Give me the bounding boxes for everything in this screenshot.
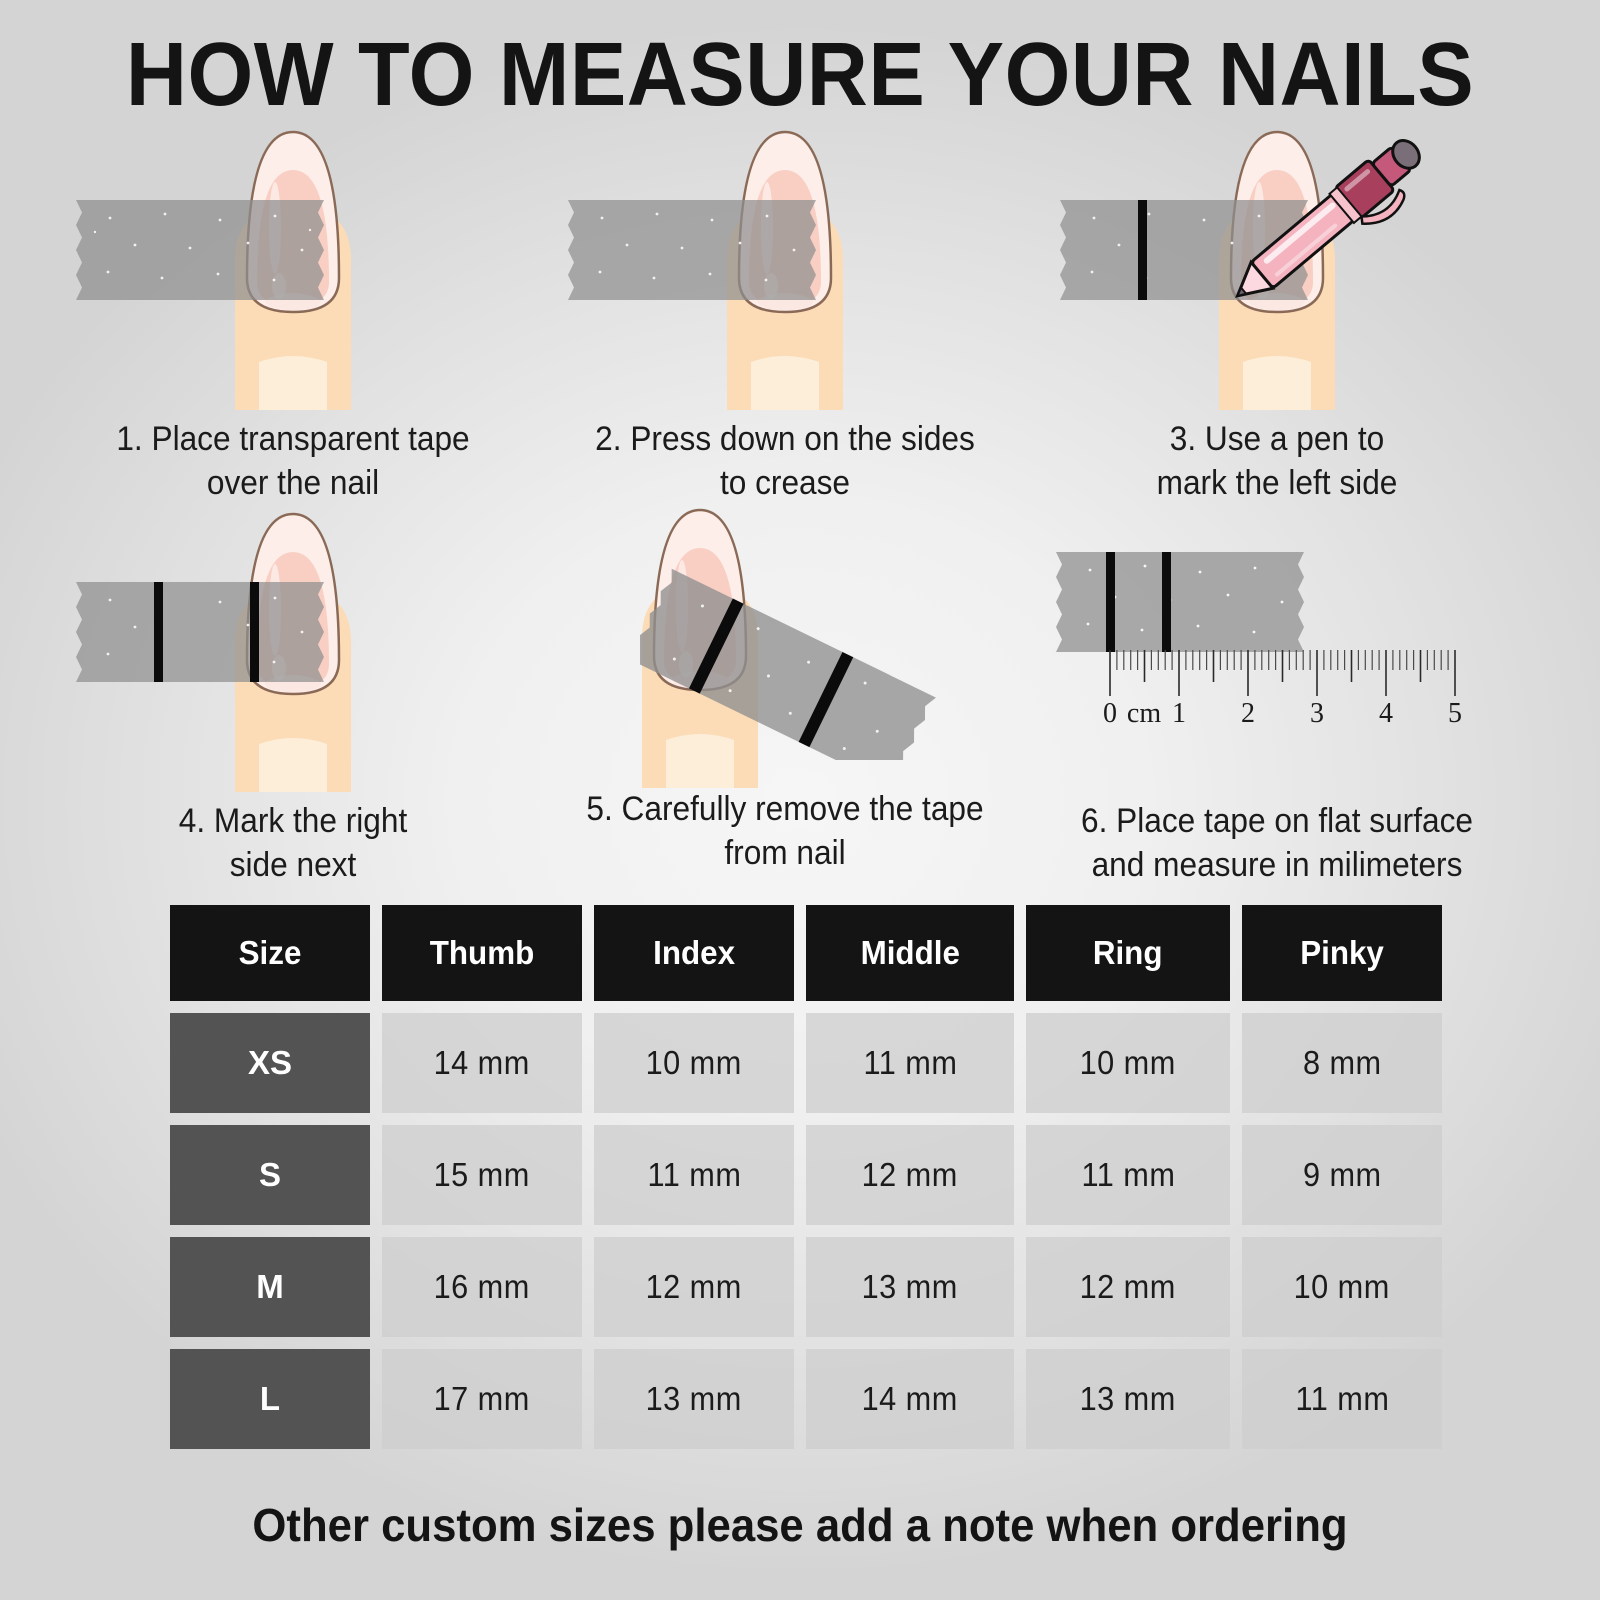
step-5-caption-line-2: from nail — [566, 832, 1003, 876]
table-header-index: Index — [594, 905, 794, 1001]
step-3: 3. Use a pen to mark the left side — [1042, 130, 1512, 505]
step-4-caption-line-2: side next — [74, 844, 511, 888]
table-cell: 11 mm — [1026, 1125, 1230, 1225]
table-cell-value: 9 mm — [1303, 1156, 1382, 1194]
table-cell-value: 13 mm — [862, 1268, 958, 1306]
table-cell: 13 mm — [1026, 1349, 1230, 1449]
step-6-caption-line-2: and measure in milimeters — [1058, 844, 1495, 888]
infographic-page: HOW TO MEASURE YOUR NAILS — [0, 0, 1600, 1600]
table-header-thumb: Thumb — [382, 905, 582, 1001]
finger-with-tape-graphic — [213, 110, 373, 410]
table-header-pinky-label: Pinky — [1300, 934, 1384, 972]
table-cell: 16 mm — [382, 1237, 582, 1337]
step-3-caption: 3. Use a pen to mark the left side — [1058, 418, 1495, 505]
finger-graphic — [620, 488, 780, 788]
table-cell-value: 14 mm — [862, 1380, 958, 1418]
table-cell: 14 mm — [806, 1349, 1014, 1449]
step-5-caption: 5. Carefully remove the tape from nail — [566, 788, 1003, 875]
step-5-caption-line-1: 5. Carefully remove the tape — [566, 788, 1003, 832]
finger-with-tape-graphic — [1197, 110, 1357, 410]
table-cell: 12 mm — [1026, 1237, 1230, 1337]
table-header-middle-label: Middle — [860, 934, 959, 972]
custom-sizes-note: Other custom sizes please add a note whe… — [40, 1498, 1560, 1552]
step-4-caption-line-1: 4. Mark the right — [74, 800, 511, 844]
step-5: 5. Carefully remove the tape from nail — [550, 500, 1020, 875]
table-header-size: Size — [170, 905, 370, 1001]
step-1: 1. Place transparent tape over the nail — [58, 130, 528, 505]
table-cell-value: 10 mm — [1294, 1268, 1390, 1306]
finger-with-creased-tape-graphic — [705, 110, 865, 410]
table-cell-value: 10 mm — [646, 1044, 742, 1082]
table-cell: 9 mm — [1242, 1125, 1442, 1225]
table-cell-value: 13 mm — [1080, 1380, 1176, 1418]
step-4-caption: 4. Mark the right side next — [74, 800, 511, 887]
table-cell-value: 11 mm — [863, 1044, 957, 1082]
left-mark — [1106, 552, 1115, 652]
step-6: 0 cm 1 2 3 4 5 6. Place tape on flat sur… — [1042, 500, 1512, 887]
table-header-size-label: Size — [239, 934, 302, 972]
table-cell-value: 10 mm — [1080, 1044, 1176, 1082]
right-mark — [1162, 552, 1171, 652]
step-2-illustration — [550, 130, 1020, 410]
table-cell: 14 mm — [382, 1013, 582, 1113]
table-header-ring: Ring — [1026, 905, 1230, 1001]
finger-with-tape-graphic — [213, 492, 373, 792]
ruler-tick-4: 4 — [1379, 698, 1393, 729]
step-4: 4. Mark the right side next — [58, 512, 528, 887]
table-cell: 12 mm — [594, 1237, 794, 1337]
table-header-ring-label: Ring — [1093, 934, 1163, 972]
ruler-tick-2: 2 — [1241, 698, 1255, 729]
step-6-caption: 6. Place tape on flat surface and measur… — [1058, 800, 1495, 887]
table-cell-value: 8 mm — [1303, 1044, 1382, 1082]
step-1-illustration — [58, 130, 528, 410]
ruler: 0 cm 1 2 3 4 5 — [1102, 650, 1462, 730]
right-mark — [799, 652, 854, 747]
table-row-size-label: M — [170, 1237, 370, 1337]
left-mark — [1138, 200, 1147, 300]
step-2: 2. Press down on the sides to crease — [550, 130, 1020, 505]
table-cell: 10 mm — [1026, 1013, 1230, 1113]
ruler-unit-label: cm — [1127, 698, 1161, 729]
table-cell-value: 17 mm — [434, 1380, 530, 1418]
table-row-size-label: S — [170, 1125, 370, 1225]
table-cell-value: 13 mm — [646, 1380, 742, 1418]
table-cell-value: 11 mm — [1081, 1156, 1175, 1194]
table-row-size-label: XS — [170, 1013, 370, 1113]
step-3-illustration — [1042, 130, 1512, 410]
table-header-middle: Middle — [806, 905, 1014, 1001]
table-cell: 11 mm — [594, 1125, 794, 1225]
table-header-pinky: Pinky — [1242, 905, 1442, 1001]
table-cell-value: 14 mm — [434, 1044, 530, 1082]
table-cell: 10 mm — [594, 1013, 794, 1113]
size-chart-table: Size Thumb Index Middle Ring Pinky XS 14… — [170, 905, 1438, 1449]
table-cell: 12 mm — [806, 1125, 1014, 1225]
step-4-illustration — [58, 512, 528, 792]
ruler-tick-3: 3 — [1310, 698, 1324, 729]
tape-on-surface — [1050, 552, 1310, 652]
step-1-caption-line-1: 1. Place transparent tape — [74, 418, 511, 462]
table-cell-value: 11 mm — [1295, 1380, 1389, 1418]
table-cell: 13 mm — [594, 1349, 794, 1449]
step-6-caption-line-1: 6. Place tape on flat surface — [1058, 800, 1495, 844]
step-3-caption-line-1: 3. Use a pen to — [1058, 418, 1495, 462]
table-header-thumb-label: Thumb — [430, 934, 534, 972]
table-cell: 10 mm — [1242, 1237, 1442, 1337]
table-cell-value: 12 mm — [862, 1156, 958, 1194]
table-cell: 13 mm — [806, 1237, 1014, 1337]
step-5-illustration — [550, 500, 1020, 780]
table-cell-value: 12 mm — [1080, 1268, 1176, 1306]
table-cell: 8 mm — [1242, 1013, 1442, 1113]
table-row-size-label: L — [170, 1349, 370, 1449]
table-cell: 17 mm — [382, 1349, 582, 1449]
table-header-index-label: Index — [653, 934, 735, 972]
ruler-tick-0: 0 — [1103, 698, 1117, 729]
table-cell-value: 11 mm — [647, 1156, 741, 1194]
table-cell: 11 mm — [1242, 1349, 1442, 1449]
step-2-caption-line-1: 2. Press down on the sides — [566, 418, 1003, 462]
table-cell: 15 mm — [382, 1125, 582, 1225]
table-cell-value: 15 mm — [434, 1156, 530, 1194]
table-cell-value: 16 mm — [434, 1268, 530, 1306]
ruler-tick-1: 1 — [1172, 698, 1186, 729]
step-3-caption-line-2: mark the left side — [1058, 462, 1495, 506]
page-title: HOW TO MEASURE YOUR NAILS — [48, 30, 1552, 120]
table-cell-value: 12 mm — [646, 1268, 742, 1306]
left-mark — [154, 582, 163, 682]
step-6-illustration: 0 cm 1 2 3 4 5 — [1042, 500, 1512, 780]
ruler-tick-5: 5 — [1448, 698, 1462, 729]
table-cell: 11 mm — [806, 1013, 1014, 1113]
